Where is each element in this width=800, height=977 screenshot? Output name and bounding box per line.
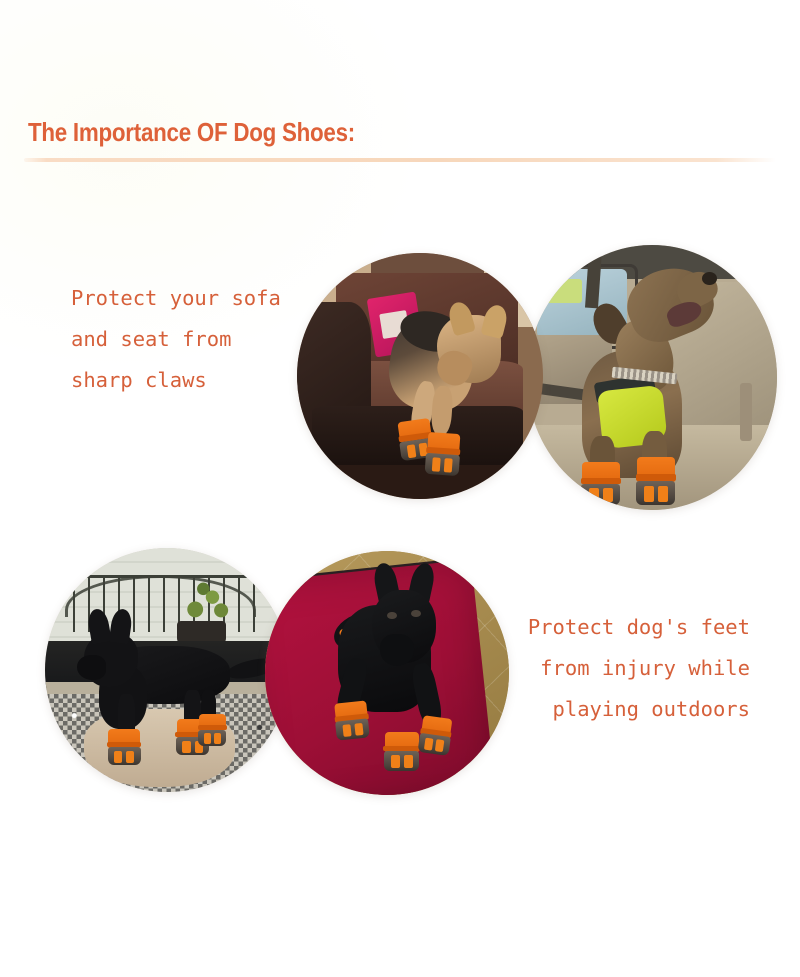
callout-sofa-claws: Protect your sofa and seat from sharp cl… xyxy=(71,278,281,401)
dog-boot-icon xyxy=(637,457,675,505)
dog-boot-icon xyxy=(385,732,419,771)
photo-dog-on-patio xyxy=(45,548,289,792)
callout-outdoor-injury: Protect dog's feet from injury while pla… xyxy=(528,607,750,730)
title-divider xyxy=(24,158,776,162)
dog-boot-icon xyxy=(582,462,620,504)
photo-dog-in-car xyxy=(527,245,777,510)
dog-boot-icon xyxy=(426,432,461,476)
dog-boot-icon xyxy=(199,714,226,746)
infographic-page: The Importance OF Dog Shoes: xyxy=(0,0,800,977)
dog-boot-icon xyxy=(108,729,140,766)
photo-dog-on-sofa xyxy=(297,253,543,499)
photo-dog-on-rug xyxy=(265,551,509,795)
page-title: The Importance OF Dog Shoes: xyxy=(28,117,355,148)
dog-boot-icon xyxy=(334,701,369,741)
dog-boot-icon xyxy=(419,715,453,755)
